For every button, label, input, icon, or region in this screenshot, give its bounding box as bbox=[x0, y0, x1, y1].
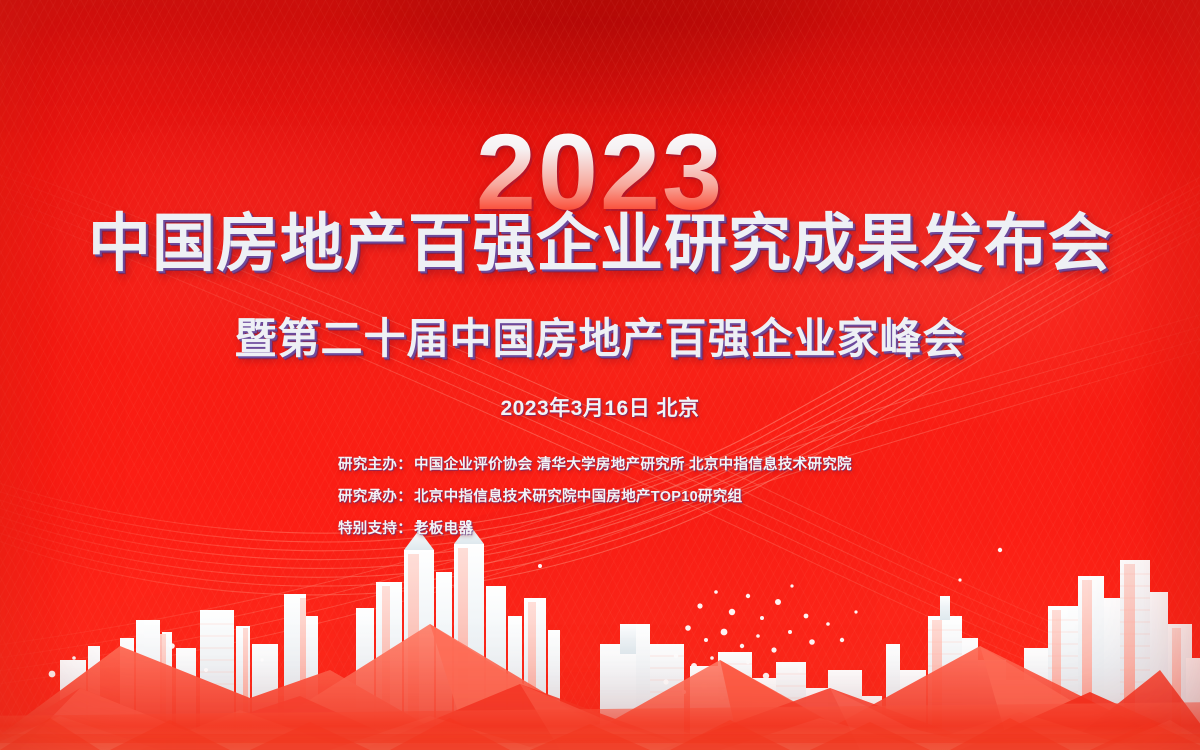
credit-label: 研究主办： bbox=[338, 457, 412, 473]
credit-line-organizers: 研究主办：中国企业评价协会 清华大学房地产研究所 北京中指信息技术研究院 bbox=[338, 453, 852, 474]
page-subtitle: 暨第二十届中国房地产百强企业家峰会 bbox=[0, 305, 1200, 366]
page-title: 中国房地产百强企业研究成果发布会 bbox=[0, 206, 1200, 283]
credit-line-host: 研究承办：北京中指信息技术研究院中国房地产TOP10研究组 bbox=[338, 485, 852, 506]
credits-block: 研究主办：中国企业评价协会 清华大学房地产研究所 北京中指信息技术研究院 研究承… bbox=[338, 453, 852, 538]
credit-line-special-support: 特别支持：老板电器 bbox=[338, 517, 852, 538]
credit-value: 老板电器 bbox=[414, 521, 473, 537]
event-datetime-location: 2023年3月16日 北京 bbox=[0, 392, 1200, 422]
credit-label: 特别支持： bbox=[338, 521, 412, 537]
event-backdrop: 2023 中国房地产百强企业研究成果发布会 暨第二十届中国房地产百强企业家峰会 … bbox=[0, 0, 1200, 750]
credit-value: 北京中指信息技术研究院中国房地产TOP10研究组 bbox=[414, 489, 742, 505]
credit-value: 中国企业评价协会 清华大学房地产研究所 北京中指信息技术研究院 bbox=[414, 457, 852, 473]
credit-label: 研究承办： bbox=[338, 489, 412, 505]
